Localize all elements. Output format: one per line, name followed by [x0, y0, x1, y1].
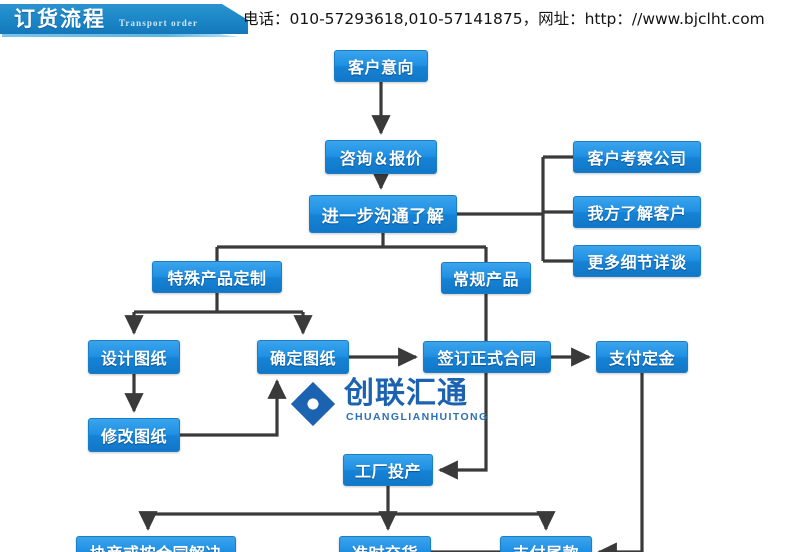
node-standard-product[interactable]: 常规产品 — [441, 262, 531, 294]
page-header: 订货流程 Transport order 电话：010-57293618,010… — [0, 0, 790, 40]
node-we-understand-customer[interactable]: 我方了解客户 — [573, 196, 701, 228]
node-pay-deposit[interactable]: 支付定金 — [596, 341, 688, 373]
node-sign-formal-contract[interactable]: 签订正式合同 — [423, 341, 551, 373]
node-negotiate-or-contract[interactable]: 协商或按合同解决 — [76, 536, 236, 552]
page-title: 订货流程 — [14, 5, 106, 33]
node-custom-product[interactable]: 特殊产品定制 — [152, 261, 282, 293]
edge-revise-to-confirm — [180, 381, 277, 435]
node-more-details-discussion[interactable]: 更多细节详谈 — [573, 245, 701, 277]
edge-deposit-to-final-payment — [599, 373, 642, 552]
node-pay-balance[interactable]: 支付尾款 — [500, 536, 592, 552]
node-on-time-delivery[interactable]: 准时交货 — [339, 536, 431, 552]
node-factory-production[interactable]: 工厂投产 — [343, 454, 433, 486]
node-further-communication[interactable]: 进一步沟通了解 — [309, 195, 457, 233]
node-customer-visits-company[interactable]: 客户考察公司 — [573, 141, 701, 173]
node-design-drawing[interactable]: 设计图纸 — [88, 340, 180, 374]
contact-info: 电话：010-57293618,010-57141875，网址：http：//w… — [243, 6, 765, 32]
page-subtitle: Transport order — [119, 17, 198, 29]
node-customer-intent[interactable]: 客户意向 — [334, 50, 428, 82]
order-process-flowchart-page: 订货流程 Transport order 电话：010-57293618,010… — [0, 0, 790, 552]
header-banner-underline — [2, 34, 238, 37]
node-revise-drawing[interactable]: 修改图纸 — [88, 418, 180, 452]
flowchart-canvas: 客户意向 咨询＆报价 进一步沟通了解 客户考察公司 我方了解客户 更多细节详谈 … — [0, 40, 790, 552]
node-consult-and-quote[interactable]: 咨询＆报价 — [325, 140, 437, 174]
edge-contract-to-production — [440, 373, 486, 470]
node-confirm-drawing[interactable]: 确定图纸 — [257, 340, 349, 374]
